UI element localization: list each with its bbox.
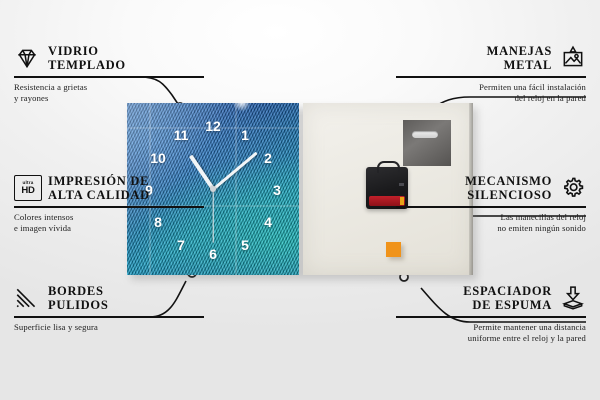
subtitle-line-2: no emiten ningún sonido [396, 223, 586, 234]
subtitle-line-2: del reloj en la pared [396, 93, 586, 104]
title-line-1: VIDRIO [48, 44, 126, 58]
title-line-1: IMPRESIÓN DE [48, 174, 150, 188]
callout-subtitle: Colores intensos e imagen vívida [14, 212, 204, 235]
clock-center-cap [210, 186, 216, 192]
callout-header: MANEJAS METAL [396, 44, 586, 72]
title-line-1: ESPACIADOR [463, 284, 552, 298]
title-line-2: SILENCIOSO [465, 188, 552, 202]
title-line-2: PULIDOS [48, 298, 108, 312]
picture-hanger-icon [560, 45, 586, 71]
callout-header: ultra HD IMPRESIÓN DE ALTA CALIDAD [14, 174, 204, 202]
callout-title: MANEJAS METAL [487, 44, 552, 72]
clock-numeral-11: 11 [174, 128, 189, 142]
title-line-1: MANEJAS [487, 44, 552, 58]
callout-rule [14, 76, 204, 78]
callout-subtitle: Superficie lisa y segura [14, 322, 204, 333]
callout-header: ESPACIADOR DE ESPUMA [396, 284, 586, 312]
callout-rule [14, 316, 204, 318]
clock-numeral-2: 2 [264, 151, 272, 165]
subtitle-line-2: y rayones [14, 93, 204, 104]
title-line-2: DE ESPUMA [463, 298, 552, 312]
subtitle-line-1: Las manecillas del reloj [396, 212, 586, 223]
callout-subtitle: Resistencia a grietas y rayones [14, 82, 204, 105]
callout-title: BORDES PULIDOS [48, 284, 108, 312]
callout-header: BORDES PULIDOS [14, 284, 204, 312]
clock-numeral-4: 4 [264, 215, 272, 229]
subtitle-line-1: Colores intensos [14, 212, 204, 223]
clock-numeral-12: 12 [205, 119, 221, 133]
metal-hanger-plate [403, 120, 451, 166]
callout-title: MECANISMO SILENCIOSO [465, 174, 552, 202]
callout-rule [396, 316, 586, 318]
foam-spacer [386, 242, 401, 257]
callout-bordes-pulidos[interactable]: BORDES PULIDOS Superficie lisa y segura [14, 284, 204, 333]
clock-numeral-10: 10 [150, 151, 166, 165]
callout-title: VIDRIO TEMPLADO [48, 44, 126, 72]
subtitle-line-2: uniforme entre el reloj y la pared [396, 333, 586, 344]
subtitle-line-2: e imagen vívida [14, 223, 204, 234]
mechanism-hanging-loop [377, 161, 400, 173]
title-line-1: BORDES [48, 284, 108, 298]
callout-rule [396, 206, 586, 208]
callout-subtitle: Permite mantener una distancia uniforme … [396, 322, 586, 345]
polished-edges-icon [14, 285, 40, 311]
title-line-2: TEMPLADO [48, 58, 126, 72]
callout-mecanismo-silencioso[interactable]: MECANISMO SILENCIOSO Las manecillas del … [396, 174, 586, 234]
callout-header: VIDRIO TEMPLADO [14, 44, 204, 72]
clock-numeral-5: 5 [241, 238, 249, 252]
callout-title: ESPACIADOR DE ESPUMA [463, 284, 552, 312]
diamond-icon [14, 45, 40, 71]
title-line-2: ALTA CALIDAD [48, 188, 150, 202]
title-line-2: METAL [487, 58, 552, 72]
callout-vidrio-templado[interactable]: VIDRIO TEMPLADO Resistencia a grietas y … [14, 44, 204, 104]
callout-manejas-metal[interactable]: MANEJAS METAL Permiten una fácil instala… [396, 44, 586, 104]
clock-second-hand [212, 189, 213, 243]
title-line-1: MECANISMO [465, 174, 552, 188]
ultra-hd-icon-main-text: HD [21, 186, 34, 196]
clock-numeral-7: 7 [177, 238, 185, 252]
subtitle-line-1: Superficie lisa y segura [14, 322, 204, 333]
gear-icon [560, 175, 586, 201]
callout-header: MECANISMO SILENCIOSO [396, 174, 586, 202]
callout-title: IMPRESIÓN DE ALTA CALIDAD [48, 174, 150, 202]
infographic-canvas: 12 1 2 3 4 5 6 7 8 9 10 11 [0, 0, 600, 400]
subtitle-line-1: Permiten una fácil instalación [396, 82, 586, 93]
subtitle-line-1: Permite mantener una distancia [396, 322, 586, 333]
ultra-hd-icon: ultra HD [14, 175, 40, 201]
subtitle-line-1: Resistencia a grietas [14, 82, 204, 93]
clock-numeral-1: 1 [241, 128, 249, 142]
hanger-keyhole-slot [412, 131, 438, 138]
callout-espaciador-espuma[interactable]: ESPACIADOR DE ESPUMA Permite mantener un… [396, 284, 586, 344]
callout-subtitle: Permiten una fácil instalación del reloj… [396, 82, 586, 105]
clock-numeral-3: 3 [273, 183, 281, 197]
clock-numeral-6: 6 [209, 247, 217, 261]
callout-rule [14, 206, 204, 208]
callout-impresion-alta-calidad[interactable]: ultra HD IMPRESIÓN DE ALTA CALIDAD Color… [14, 174, 204, 234]
foam-spacer-icon [560, 285, 586, 311]
callout-rule [396, 76, 586, 78]
callout-subtitle: Las manecillas del reloj no emiten ningú… [396, 212, 586, 235]
